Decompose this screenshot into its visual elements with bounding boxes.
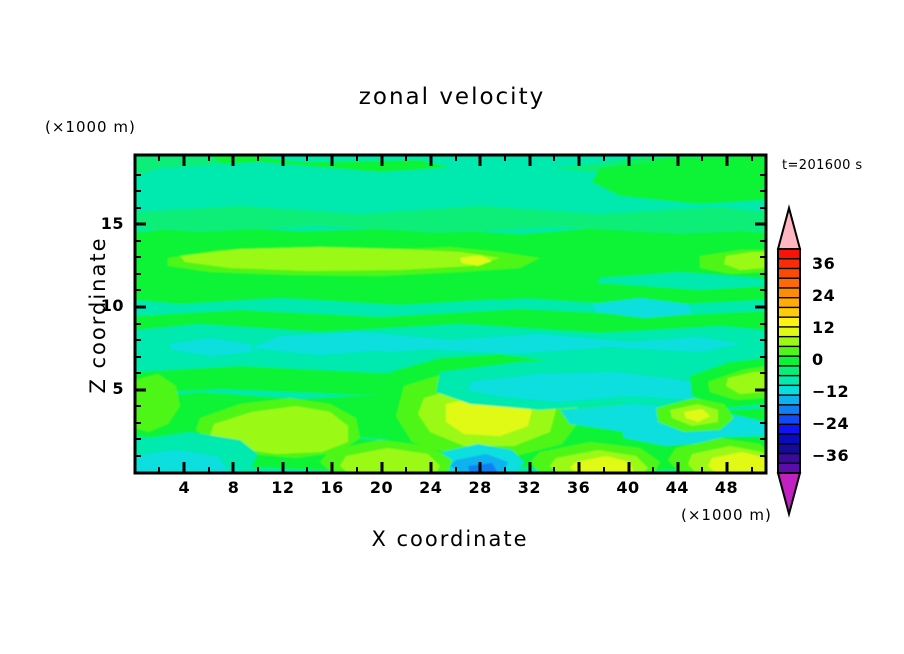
x-tick-label: 20 <box>361 478 401 497</box>
colorbar-bands <box>778 249 800 473</box>
colorbar-band <box>778 405 800 415</box>
y-tick-label: 10 <box>84 296 124 315</box>
z-axis-unit-label: (×1000 m) <box>45 118 136 136</box>
x-tick-label: 32 <box>509 478 549 497</box>
y-tick-label: 15 <box>84 214 124 233</box>
colorbar-tick-label: −24 <box>812 414 862 433</box>
x-tick-label: 12 <box>263 478 303 497</box>
time-annotation: t=201600 s <box>782 158 863 173</box>
x-tick-label: 8 <box>214 478 254 497</box>
page-title: zonal velocity <box>0 84 904 110</box>
colorbar-band <box>778 395 800 405</box>
colorbar-band <box>778 337 800 347</box>
x-tick-label: 40 <box>608 478 648 497</box>
y-tick-label: 5 <box>84 379 124 398</box>
x-tick-label: 48 <box>707 478 747 497</box>
colorbar-band <box>778 463 800 473</box>
x-tick-label: 44 <box>657 478 697 497</box>
colorbar-band <box>778 268 800 278</box>
colorbar-band <box>778 288 800 298</box>
colorbar-band <box>778 385 800 395</box>
colorbar-band <box>778 298 800 308</box>
colorbar-tick-label: −36 <box>812 446 862 465</box>
contour-field <box>135 155 766 473</box>
x-tick-label: 28 <box>460 478 500 497</box>
x-axis-title: X coordinate <box>300 527 600 551</box>
colorbar-band <box>778 434 800 444</box>
colorbar-band <box>778 444 800 454</box>
colorbar-band <box>778 249 800 259</box>
colorbar-band <box>778 317 800 327</box>
colorbar-band <box>778 415 800 425</box>
colorbar-tick-label: 24 <box>812 286 862 305</box>
colorbar-band <box>778 356 800 366</box>
colorbar-band <box>778 454 800 464</box>
x-tick-label: 36 <box>559 478 599 497</box>
colorbar-tick-label: −12 <box>812 382 862 401</box>
x-tick-label: 24 <box>411 478 451 497</box>
colorbar-tick-label: 36 <box>812 254 862 273</box>
colorbar-band <box>778 424 800 434</box>
colorbar-band <box>778 307 800 317</box>
x-tick-label: 16 <box>312 478 352 497</box>
x-axis-unit-label: (×1000 m) <box>681 506 772 524</box>
colorbar[interactable] <box>778 208 800 514</box>
colorbar-band <box>778 376 800 386</box>
colorbar-tick-label: 12 <box>812 318 862 337</box>
x-tick-label: 4 <box>164 478 204 497</box>
colorbar-band <box>778 346 800 356</box>
colorbar-band <box>778 259 800 269</box>
colorbar-tick-label: 0 <box>812 350 862 369</box>
colorbar-band <box>778 327 800 337</box>
colorbar-band <box>778 366 800 376</box>
colorbar-band <box>778 278 800 288</box>
